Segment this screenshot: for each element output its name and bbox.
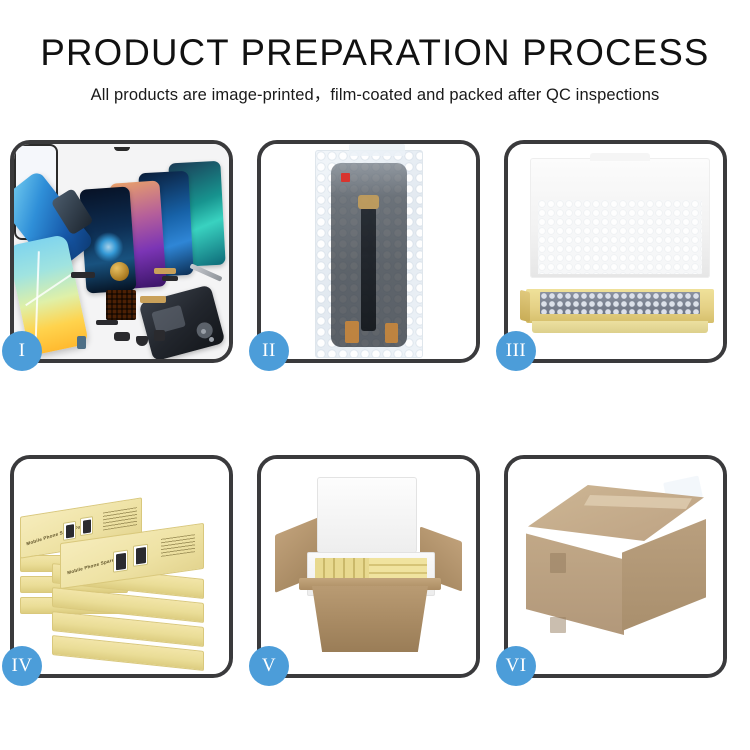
bubble-wrapped-screen-photo [261, 144, 476, 359]
step-badge-4: IV [2, 646, 42, 686]
yellow-tray-icon [526, 289, 714, 323]
step-5-image [261, 459, 476, 674]
step-badge-5: V [249, 646, 289, 686]
foam-sheet-icon [538, 200, 702, 274]
box-art-screen-icon [113, 550, 128, 573]
tweezers-icon [189, 263, 222, 281]
step-card-2[interactable]: II [257, 140, 480, 363]
part-strip-icon [77, 336, 86, 349]
stacked-retail-boxes-photo: Mobile Phone Spare Parts Mobile Phone Sp… [14, 459, 229, 674]
product-preparation-page: PRODUCT PREPARATION PROCESS All products… [0, 0, 750, 750]
flex-cable-icon [162, 276, 178, 281]
step-badge-2: II [249, 331, 289, 371]
copper-coil-icon [110, 262, 129, 281]
part-strip-icon [136, 336, 148, 346]
carton-front-face-icon [526, 527, 624, 635]
step-card-6[interactable]: VI [504, 455, 727, 678]
page-title: PRODUCT PREPARATION PROCESS [4, 30, 747, 76]
phone-parts-collage [14, 144, 229, 359]
box-spec-lines [103, 507, 137, 530]
bubble-wrap-bag-icon [315, 150, 423, 358]
page-subtitle: All products are image-printed，film-coat… [0, 84, 750, 106]
step-card-4[interactable]: Mobile Phone Spare Parts Mobile Phone Sp… [10, 455, 233, 678]
page-header: PRODUCT PREPARATION PROCESS All products… [0, 30, 750, 106]
flex-cable-icon [154, 268, 176, 274]
open-carton-photo [261, 459, 476, 674]
box-art-screen-icon [63, 521, 76, 541]
styrofoam-lid-icon [317, 477, 417, 553]
bubble-wrapped-contents-icon [540, 292, 700, 314]
box-art-screen-icon [80, 516, 93, 536]
process-step-grid: I II [10, 140, 740, 678]
part-strip-icon [71, 272, 95, 278]
chip-grid-icon [106, 290, 136, 320]
carton-body-icon [307, 586, 433, 652]
step-card-5[interactable]: V [257, 455, 480, 678]
step-badge-6: VI [496, 646, 536, 686]
connector-icon [345, 321, 359, 343]
carton-tab-icon [550, 617, 566, 633]
step-6-image [508, 459, 723, 674]
step-card-3[interactable]: III [504, 140, 727, 363]
step-4-image: Mobile Phone Spare Parts Mobile Phone Sp… [14, 459, 229, 674]
step-2-image [261, 144, 476, 359]
step-badge-1: I [2, 331, 42, 371]
connector-icon [385, 323, 398, 343]
step-badge-3: III [496, 331, 536, 371]
part-strip-icon [154, 330, 165, 341]
box-art-screen-icon [133, 544, 148, 567]
sealed-carton-photo [508, 459, 723, 674]
bag-seal-icon [349, 144, 405, 156]
carton-tab-icon [550, 553, 566, 573]
foam-tray-box-photo [508, 144, 723, 359]
flex-cable-icon [140, 296, 166, 303]
tray-front-flap-icon [532, 321, 708, 333]
step-card-1[interactable]: I [10, 140, 233, 363]
red-sticker-icon [341, 173, 350, 182]
step-3-image [508, 144, 723, 359]
part-strip-icon [96, 320, 118, 325]
step-1-image [14, 144, 229, 359]
part-strip-icon [114, 332, 130, 341]
box-spec-lines [161, 534, 195, 557]
screws-icon [201, 329, 217, 345]
flex-cable-icon [361, 207, 376, 331]
